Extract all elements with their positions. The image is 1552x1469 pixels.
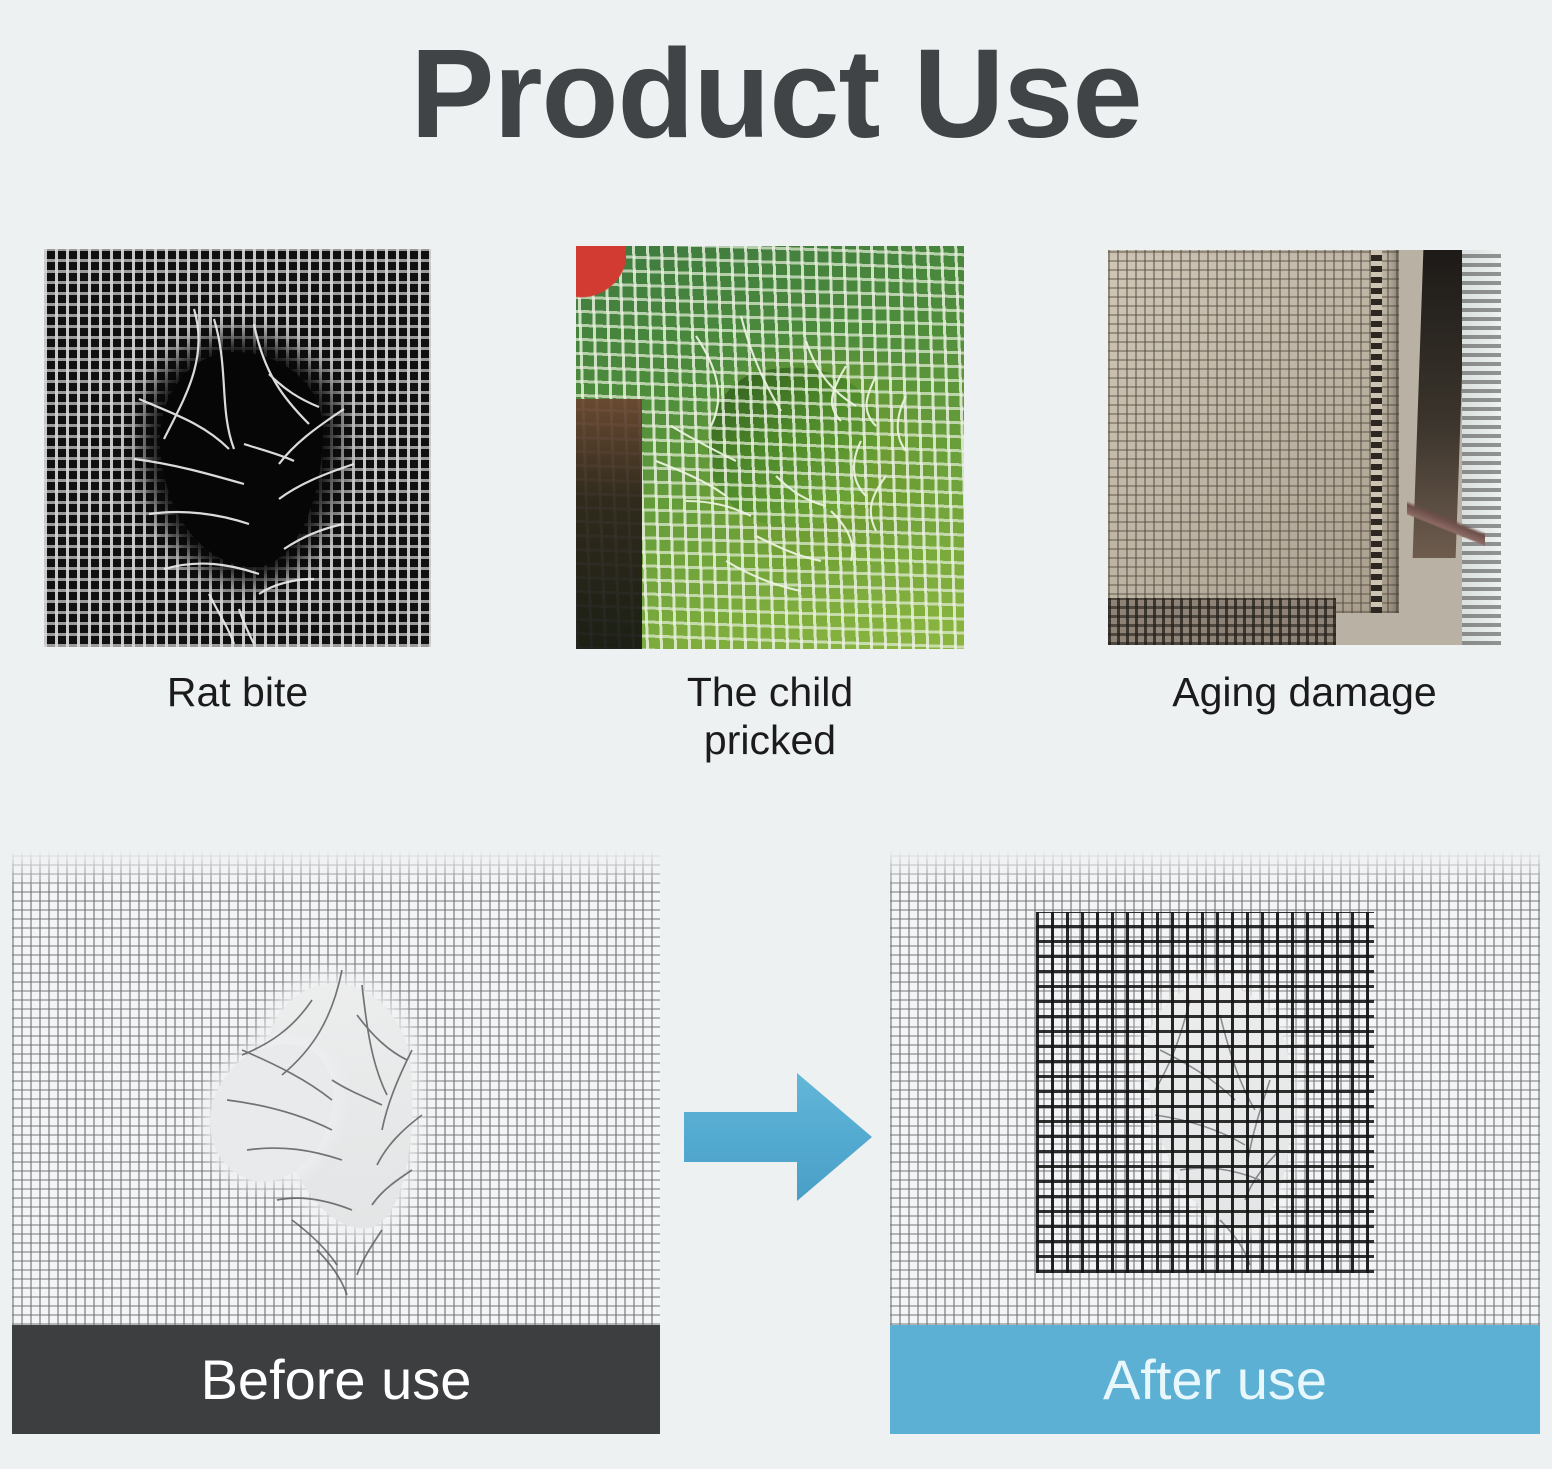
banner-before-use: Before use — [12, 1325, 660, 1434]
loose-wire — [1407, 432, 1486, 614]
screen-seam — [1371, 250, 1382, 613]
frayed-threads-overlay — [44, 249, 431, 647]
photo-before-use — [12, 850, 660, 1325]
panel-after-use: After use — [890, 850, 1540, 1434]
photo-rat-bite — [44, 249, 431, 647]
top-fade — [12, 850, 660, 888]
caption-child-pricked-line1: The child — [576, 668, 964, 716]
photo-child-pricked — [576, 246, 964, 649]
page-title: Product Use — [0, 28, 1552, 160]
arrow-right-icon — [684, 1073, 872, 1201]
banner-after-use-label: After use — [1103, 1347, 1327, 1412]
frayed-threads-overlay — [12, 850, 660, 1325]
photo-after-use — [890, 850, 1540, 1325]
repair-patch — [1036, 912, 1374, 1273]
photo-aging-damage — [1108, 250, 1501, 645]
caption-child-pricked: The child pricked — [576, 668, 964, 765]
banner-before-use-label: Before use — [201, 1347, 472, 1412]
caption-aging-damage: Aging damage — [1108, 668, 1501, 716]
frayed-threads-overlay — [576, 246, 964, 649]
banner-after-use: After use — [890, 1325, 1540, 1434]
panel-before-use: Before use — [12, 850, 660, 1434]
caption-rat-bite: Rat bite — [44, 668, 431, 716]
lower-screen-section — [1108, 598, 1336, 645]
caption-child-pricked-line2: pricked — [576, 716, 964, 764]
aged-screen-panel — [1108, 250, 1399, 613]
top-fade — [890, 850, 1540, 888]
